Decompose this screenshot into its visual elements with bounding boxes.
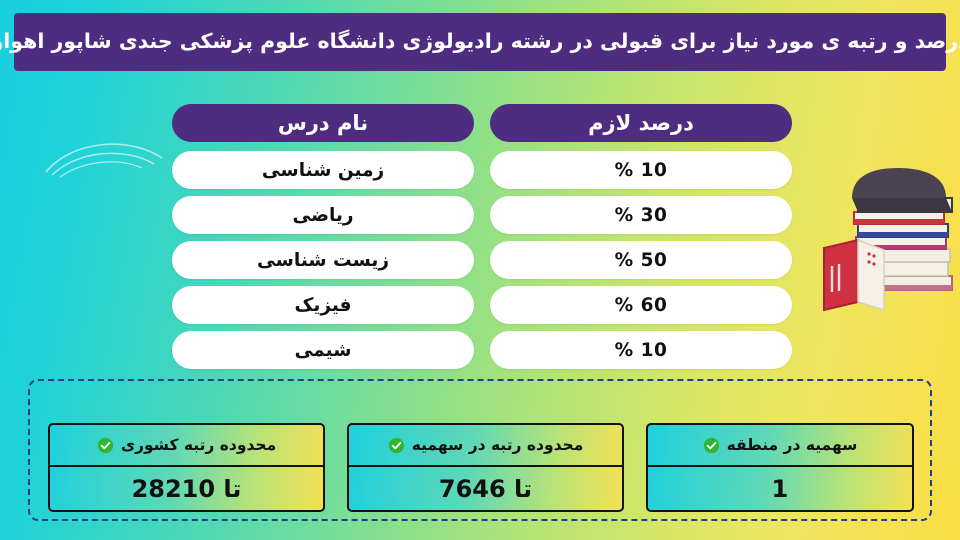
rank-cards: محدوده رتبه کشوری تا 28210 محدوده رتبه د… <box>48 423 914 512</box>
table-header-row: نام درس درصد لازم <box>172 104 792 142</box>
cell-subject: زمین شناسی <box>172 151 474 189</box>
check-circle-icon <box>388 437 405 454</box>
table-row: زیست شناسی 50 % <box>172 241 792 279</box>
infographic-poster: درصد و رتبه ی مورد نیاز برای قبولی در رش… <box>0 0 960 540</box>
column-header-percent: درصد لازم <box>490 104 792 142</box>
table-row: شیمی 10 % <box>172 331 792 369</box>
cell-subject: زیست شناسی <box>172 241 474 279</box>
rank-card-region-quota: سهمیه در منطقه 1 <box>646 423 914 512</box>
rank-card-label: سهمیه در منطقه <box>727 436 858 454</box>
table-row: فیزیک 60 % <box>172 286 792 324</box>
cell-percent: 50 % <box>490 241 792 279</box>
table-body: زمین شناسی 10 % ریاضی 30 % زیست شناسی 50… <box>172 151 792 369</box>
requirements-table: نام درس درصد لازم زمین شناسی 10 % ریاضی … <box>172 104 792 376</box>
column-header-subject: نام درس <box>172 104 474 142</box>
rank-card-value: 1 <box>648 467 912 510</box>
rank-card-national: محدوده رتبه کشوری تا 28210 <box>48 423 325 512</box>
cell-percent: 30 % <box>490 196 792 234</box>
page-title: درصد و رتبه ی مورد نیاز برای قبولی در رش… <box>0 29 960 55</box>
table-row: زمین شناسی 10 % <box>172 151 792 189</box>
cell-percent: 10 % <box>490 151 792 189</box>
check-circle-icon <box>703 437 720 454</box>
rank-card-label: محدوده رتبه کشوری <box>121 436 276 454</box>
cell-subject: شیمی <box>172 331 474 369</box>
rank-card-label: محدوده رتبه در سهمیه <box>412 436 584 454</box>
cell-subject: ریاضی <box>172 196 474 234</box>
cell-percent: 10 % <box>490 331 792 369</box>
cell-percent: 60 % <box>490 286 792 324</box>
rank-card-header: محدوده رتبه کشوری <box>50 425 323 467</box>
swoosh-lines-decoration <box>42 128 167 186</box>
rank-card-value: تا 28210 <box>50 467 323 510</box>
rank-card-value: تا 7646 <box>349 467 622 510</box>
page-title-bar: درصد و رتبه ی مورد نیاز برای قبولی در رش… <box>14 13 946 71</box>
table-row: ریاضی 30 % <box>172 196 792 234</box>
cell-subject: فیزیک <box>172 286 474 324</box>
book-stack-illustration <box>812 150 960 315</box>
check-circle-icon <box>97 437 114 454</box>
rank-card-header: سهمیه در منطقه <box>648 425 912 467</box>
rank-card-quota-rank: محدوده رتبه در سهمیه تا 7646 <box>347 423 624 512</box>
rank-card-header: محدوده رتبه در سهمیه <box>349 425 622 467</box>
